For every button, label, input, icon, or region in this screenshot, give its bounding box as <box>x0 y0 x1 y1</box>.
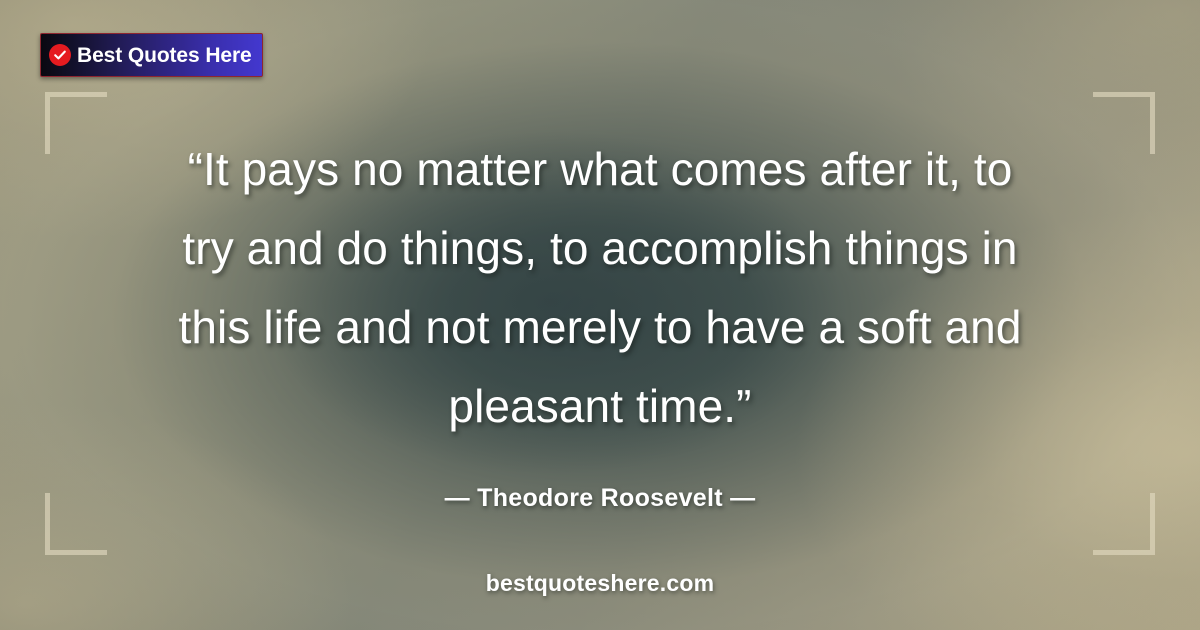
quote-line: pleasant time.” <box>60 367 1140 446</box>
quote-line: this life and not merely to have a soft … <box>60 288 1140 367</box>
quote-line: “It pays no matter what comes after it, … <box>60 130 1140 209</box>
quote-card: Best Quotes Here “It pays no matter what… <box>0 0 1200 630</box>
quote-content: “It pays no matter what comes after it, … <box>0 130 1200 513</box>
website-url[interactable]: bestquoteshere.com <box>0 570 1200 597</box>
quote-attribution: — Theodore Roosevelt — <box>60 484 1140 513</box>
check-circle-icon <box>49 44 71 66</box>
brand-badge-label: Best Quotes Here <box>77 45 252 66</box>
quote-text: “It pays no matter what comes after it, … <box>60 130 1140 446</box>
quote-line: try and do things, to accomplish things … <box>60 209 1140 288</box>
brand-badge[interactable]: Best Quotes Here <box>40 33 263 77</box>
